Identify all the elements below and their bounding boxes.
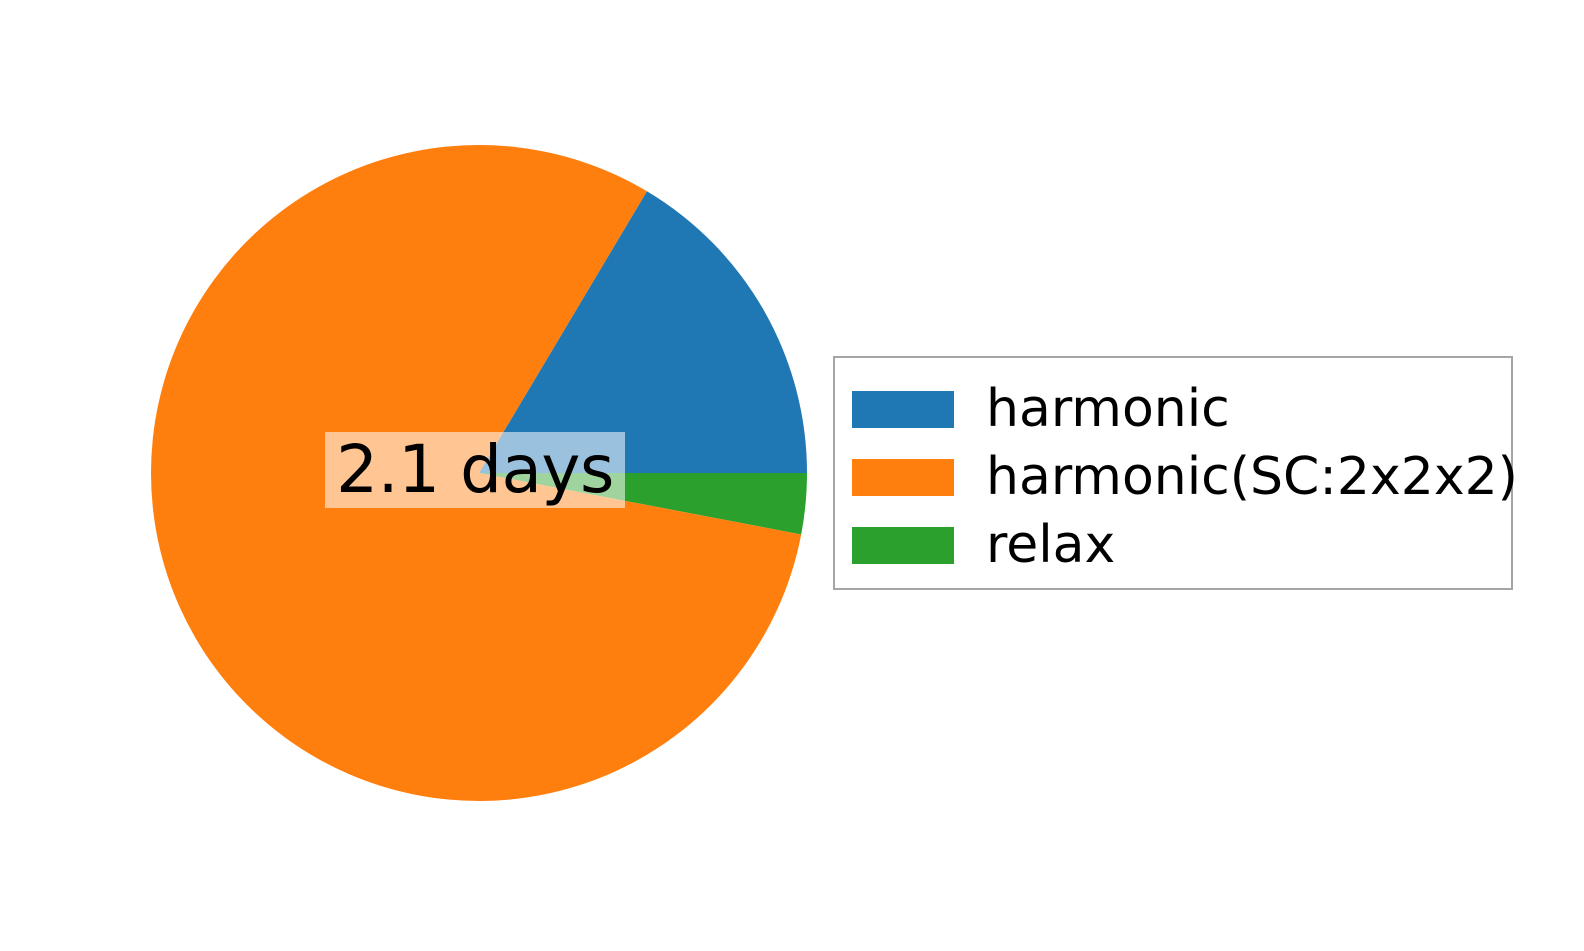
legend-swatch-relax [852,527,954,564]
legend-entry-list: harmonicharmonic(SC:2x2x2)relax [852,375,1518,579]
center-annotation-text: 2.1 days [336,432,614,508]
legend-entry: relax [852,511,1518,579]
center-annotation-label: 2.1 days [325,432,625,508]
legend-label: harmonic [986,381,1230,437]
legend-entry: harmonic [852,375,1518,443]
legend-entry: harmonic(SC:2x2x2) [852,443,1518,511]
legend-label: harmonic(SC:2x2x2) [986,449,1518,505]
legend-label: relax [986,517,1115,573]
legend-swatch-harmonic-sc-2x2x2 [852,459,954,496]
figure-canvas: 2.1 days harmonicharmonic(SC:2x2x2)relax [0,0,1584,951]
legend-swatch-harmonic [852,391,954,428]
legend-box: harmonicharmonic(SC:2x2x2)relax [833,356,1513,590]
